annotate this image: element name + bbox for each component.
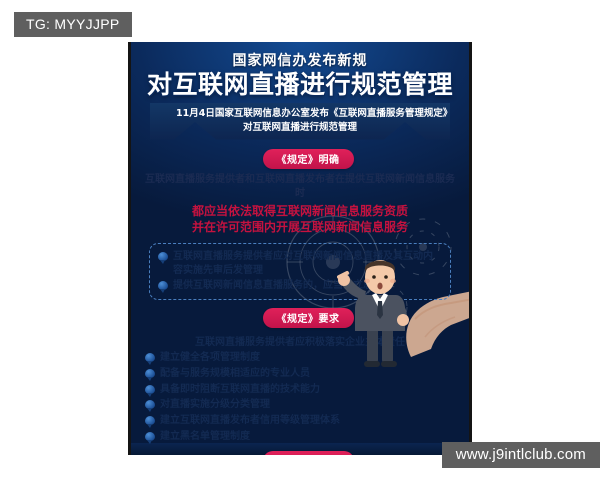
header-ribbon: 11月4日国家互联网信息办公室发布《互联网直播服务管理规定》 对互联网直播进行规…	[150, 103, 450, 140]
list-item-label: 建立互联网直播发布者信用等级管理体系	[160, 415, 340, 426]
speech-bubble-icon	[145, 416, 155, 425]
list-item-label: 对直播实施分级分类管理	[160, 399, 270, 410]
badge-clarify: 《规定》明确	[263, 149, 354, 169]
list-item: 配备与服务规模相适应的专业人员	[145, 367, 457, 381]
ribbon-line-2: 对互联网直播进行规范管理	[176, 121, 424, 135]
list-item-label: 具备即时阻断互联网直播的技术能力	[160, 384, 320, 395]
businessman-illustration	[337, 249, 423, 369]
badge-propose: 《规定》提出	[263, 451, 354, 455]
poster-header: 国家网信办发布新规 对互联网直播进行规范管理 11月4日国家互联网信息办公室发布…	[131, 42, 469, 140]
ribbon-line-1: 11月4日国家互联网信息办公室发布《互联网直播服务管理规定》	[176, 107, 424, 121]
speech-bubble-icon	[145, 353, 155, 362]
speech-bubble-icon	[145, 432, 155, 441]
poster-image: 国家网信办发布新规 对互联网直播进行规范管理 11月4日国家互联网信息办公室发布…	[128, 42, 472, 455]
list-item-label: 建立黑名单管理制度	[160, 431, 250, 442]
list-item-label: 建立健全各项管理制度	[160, 352, 260, 363]
clarify-lead: 互联网直播服务提供者和互联网直播发布者在提供互联网新闻信息服务时	[143, 173, 457, 202]
list-item-label: 配备与服务规模相适应的专业人员	[160, 368, 310, 379]
tg-watermark-tag: TG: MYYJJPP	[14, 12, 132, 37]
header-headline: 对互联网直播进行规范管理	[131, 71, 469, 99]
list-item: 建立黑名单管理制度	[145, 430, 457, 444]
speech-bubble-icon	[145, 369, 155, 378]
clarify-emphasis-2: 并在许可范围内开展互联网新闻信息服务	[143, 219, 457, 236]
list-item: 建立互联网直播发布者信用等级管理体系	[145, 414, 457, 428]
speech-bubble-icon	[145, 385, 155, 394]
list-item: 对直播实施分级分类管理	[145, 398, 457, 412]
section-propose: 《规定》提出	[143, 448, 457, 455]
clarify-emphasis-1: 都应当依法取得互联网新闻信息服务资质	[143, 203, 457, 220]
list-item: 具备即时阻断互联网直播的技术能力	[145, 383, 457, 397]
speech-bubble-icon	[145, 400, 155, 409]
site-watermark-tag: www.j9intlclub.com	[442, 442, 600, 468]
speech-bubble-icon	[158, 252, 168, 261]
header-eyebrow: 国家网信办发布新规	[131, 50, 469, 70]
speech-bubble-icon	[158, 281, 168, 290]
